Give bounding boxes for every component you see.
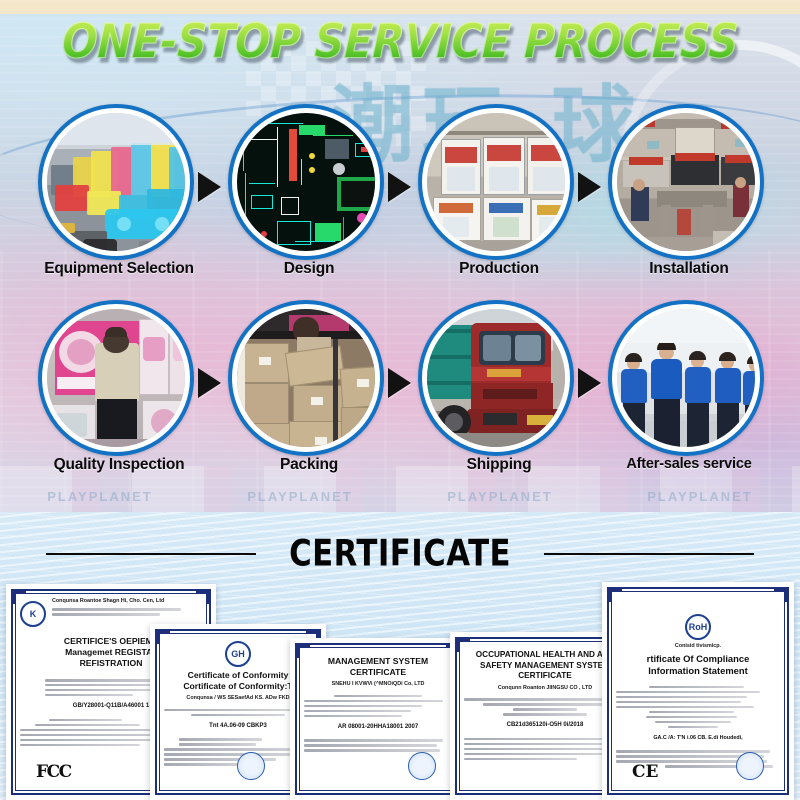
- certificate-seal-icon: GH: [225, 641, 251, 667]
- certificate-marks: [180, 752, 296, 780]
- certificate-body: MANAGEMENT SYSTEM CERTIFICATE SNEHU I KV…: [304, 652, 452, 786]
- background-logo-strip-text: PLAYPLANET PLAYPLANET PLAYPLANET PLAYPLA…: [0, 489, 800, 504]
- logo-strip-word: PLAYPLANET: [647, 489, 752, 504]
- process-step-circle: [608, 104, 764, 260]
- process-step-packing[interactable]: Packing: [228, 300, 390, 486]
- certificate-marks: CE: [632, 752, 764, 780]
- certificate-org: Conqunsa Roantoe Shagn Hi, Cho. Cen, Ltd: [52, 598, 202, 606]
- round-seal-icon: [736, 752, 764, 780]
- process-title-wrap: ONE-STOP SERVICE PROCESS: [0, 14, 800, 68]
- one-stop-service-process-section: 潮玩 球 PLAYPLANET PLAYPLANET PLAYPLANET PL…: [0, 0, 800, 512]
- process-step-photo-after-sales-service: [617, 309, 755, 447]
- process-step-circle: [228, 300, 384, 456]
- process-step-photo-installation: [617, 113, 755, 251]
- process-step-label: Quality Inspection: [14, 456, 224, 474]
- logo-strip-word: PLAYPLANET: [247, 489, 352, 504]
- heading-rule-left: [46, 553, 256, 555]
- page-title: ONE-STOP SERVICE PROCESS: [61, 14, 739, 69]
- heading-rule-right: [544, 553, 754, 555]
- process-step-label: Shipping: [394, 456, 604, 474]
- certificate-title-line: rtificate Of Compliance: [616, 653, 780, 665]
- certificate-seal-icon: RoH: [685, 614, 711, 640]
- process-step-equipment-selection[interactable]: Equipment Selection: [38, 104, 200, 290]
- fcc-mark-icon: FCC: [36, 765, 71, 780]
- process-step-label: Installation: [584, 260, 794, 278]
- certificate-body: RoH Conisid tivismicp. rtificate Of Comp…: [616, 596, 780, 786]
- certificate-org: SNEHU I KVWVi (^MNOiQDi Co, LTD: [304, 681, 452, 689]
- process-step-circle: [418, 300, 574, 456]
- certificate-standard: GA.C /A: T'N i.06 CB. E.di Houdedi,: [616, 735, 780, 741]
- arrow-right-icon: [198, 172, 221, 202]
- arrow-right-icon: [578, 172, 601, 202]
- process-step-design[interactable]: Design: [228, 104, 390, 290]
- certificate-marks: [320, 752, 436, 780]
- process-step-shipping[interactable]: Shipping: [418, 300, 580, 486]
- certificate-gallery: K Conqunsa Roantoe Shagn Hi, Cho. Cen, L…: [0, 582, 800, 800]
- certificate-title-line: CERTIFICATE: [304, 667, 452, 678]
- process-step-production[interactable]: Production: [418, 104, 580, 290]
- promo-page: 潮玩 球 PLAYPLANET PLAYPLANET PLAYPLANET PL…: [0, 0, 800, 800]
- process-step-circle: [418, 104, 574, 260]
- arrow-right-icon: [388, 172, 411, 202]
- process-step-photo-equipment-selection: [47, 113, 185, 251]
- certificate-title-line: Information Statement: [616, 665, 780, 677]
- process-step-label: Equipment Selection: [14, 260, 224, 278]
- process-step-label: After-sales service: [584, 456, 794, 472]
- process-step-circle: [608, 300, 764, 456]
- process-row-1: Equipment Selection: [0, 104, 800, 290]
- process-step-photo-quality-inspection: [47, 309, 185, 447]
- round-seal-icon: [237, 752, 265, 780]
- arrow-right-icon: [198, 368, 221, 398]
- logo-strip-word: PLAYPLANET: [47, 489, 152, 504]
- logo-strip-word: PLAYPLANET: [447, 489, 552, 504]
- process-step-circle: [38, 104, 194, 260]
- process-step-photo-design: [237, 113, 375, 251]
- process-step-installation[interactable]: Installation: [608, 104, 770, 290]
- process-step-photo-production: [427, 113, 565, 251]
- process-row-2: Quality Inspection: [0, 300, 800, 486]
- ce-mark-icon: CE: [632, 765, 659, 780]
- certificate-title-line: MANAGEMENT SYSTEM: [304, 656, 452, 667]
- certificate-standard: AR 08001-20HHA18001 2007: [304, 724, 452, 730]
- process-step-label: Design: [204, 260, 414, 278]
- process-step-label: Packing: [204, 456, 414, 474]
- process-step-circle: [38, 300, 194, 456]
- process-step-quality-inspection[interactable]: Quality Inspection: [38, 300, 200, 486]
- process-step-after-sales-service[interactable]: After-sales service: [608, 300, 770, 486]
- certificate-section: CERTIFICATE K Conqunsa Roantoe Shagn Hi,…: [0, 512, 800, 800]
- certificate-seal-icon: K: [20, 601, 46, 627]
- process-step-circle: [228, 104, 384, 260]
- process-step-photo-packing: [237, 309, 375, 447]
- certificate-heading-row: CERTIFICATE: [0, 530, 800, 578]
- certificate-heading: CERTIFICATE: [289, 533, 511, 575]
- round-seal-icon: [408, 752, 436, 780]
- process-step-label: Production: [394, 260, 604, 278]
- certificate-card-compliance[interactable]: RoH Conisid tivismicp. rtificate Of Comp…: [602, 582, 794, 800]
- process-step-photo-shipping: [427, 309, 565, 447]
- arrow-right-icon: [388, 368, 411, 398]
- certificate-card-management-system[interactable]: MANAGEMENT SYSTEM CERTIFICATE SNEHU I KV…: [290, 638, 466, 800]
- arrow-right-icon: [578, 368, 601, 398]
- certificate-org: Conisid tivismicp.: [616, 643, 780, 651]
